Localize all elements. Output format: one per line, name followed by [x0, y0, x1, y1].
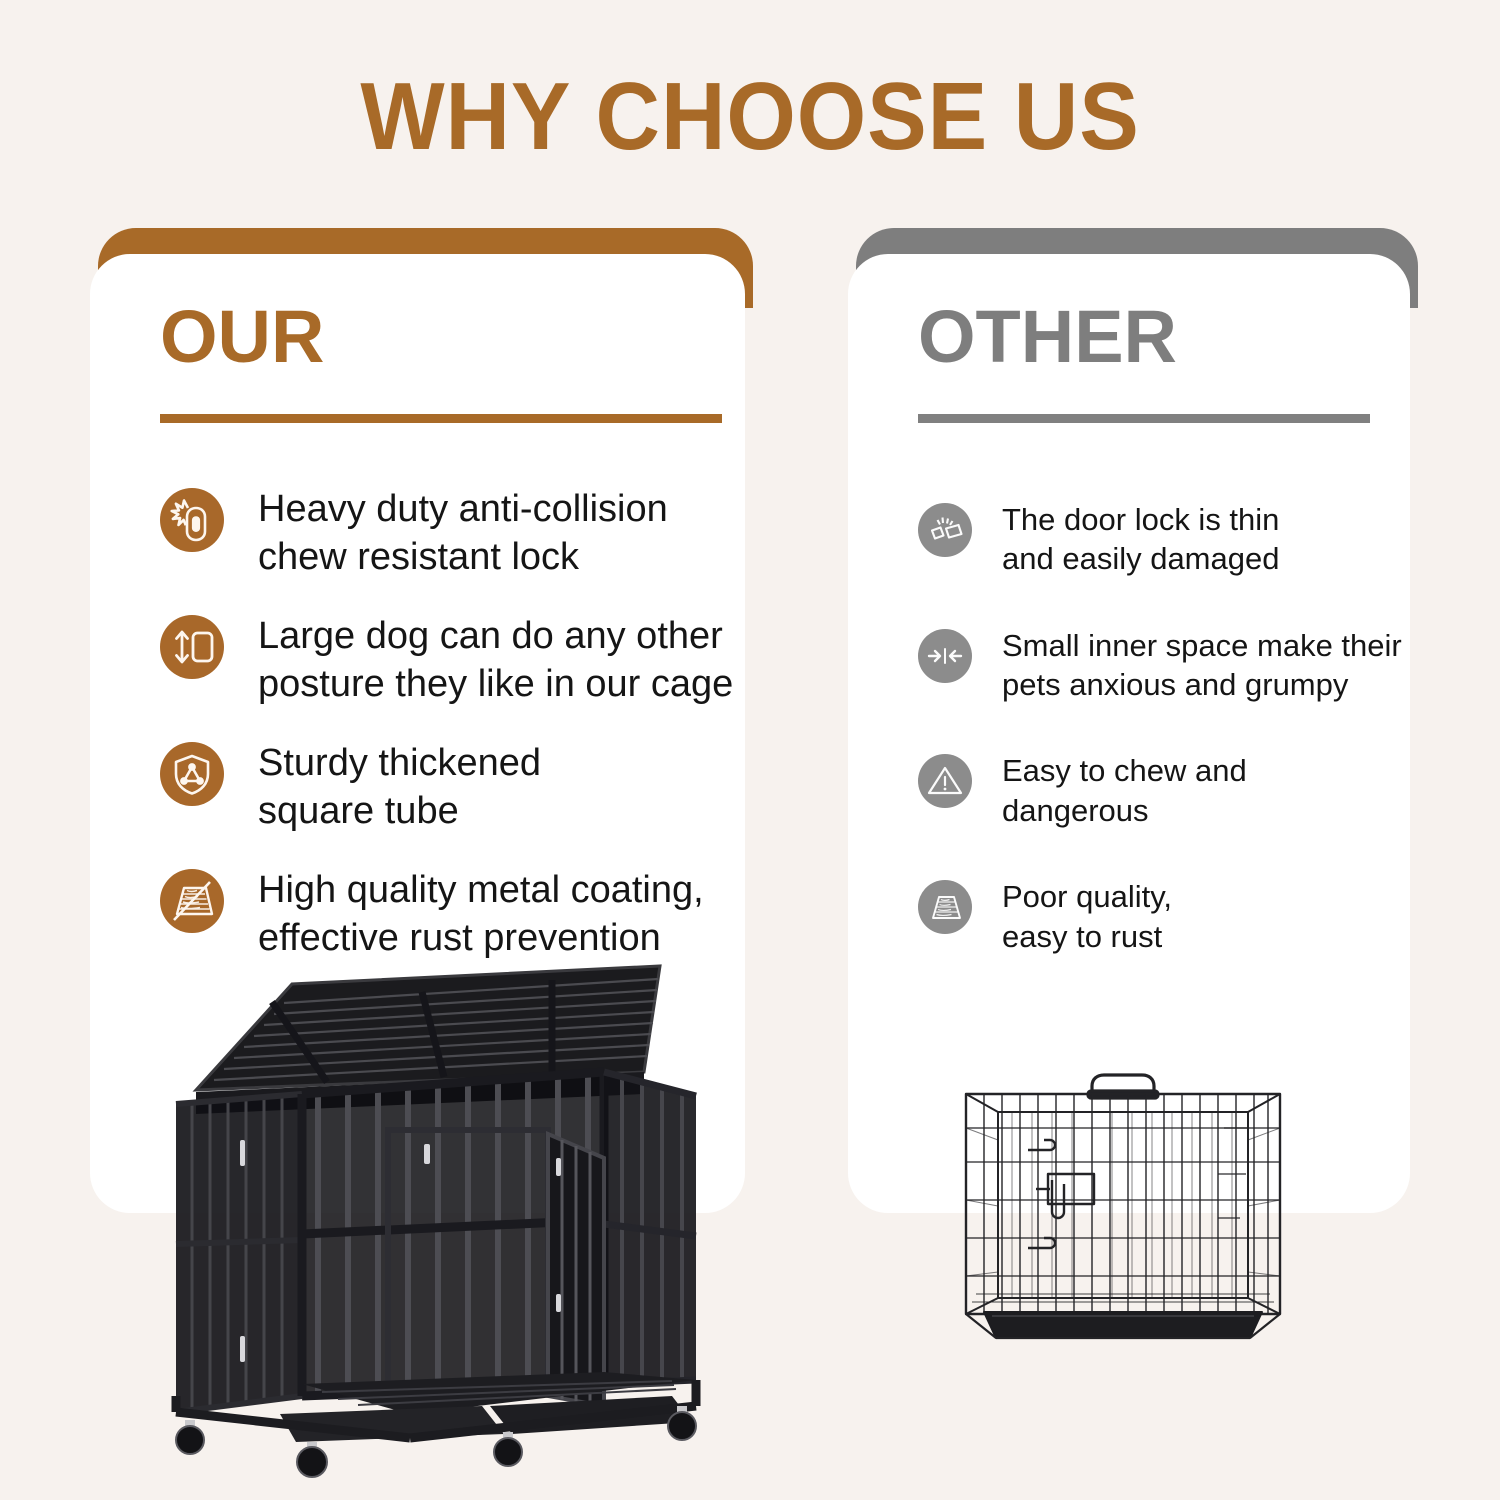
feature-row: Heavy duty anti-collision chew resistant… [160, 486, 726, 581]
our-card-heading: OUR [160, 300, 324, 374]
feature-label: Small inner space make their pets anxiou… [1002, 626, 1402, 705]
feature-label: Easy to chew and dangerous [1002, 751, 1247, 830]
feature-label: Sturdy thickened square tube [258, 740, 541, 835]
heavy-duty-steel-dog-crate-image [152, 944, 722, 1484]
our-feature-list: Heavy duty anti-collision chew resistant… [160, 486, 726, 994]
chew-resistant-lock-icon [160, 488, 224, 552]
our-heading-divider [160, 414, 722, 423]
feature-row: Sturdy thickened square tube [160, 740, 726, 835]
infographic-root: WHY CHOOSE US OUR Heavy duty [0, 0, 1500, 1500]
other-heading-divider [918, 414, 1370, 423]
other-card-heading: OTHER [918, 300, 1177, 374]
compress-arrows-icon [918, 629, 972, 683]
page-title: WHY CHOOSE US [53, 62, 1448, 172]
feature-label: Heavy duty anti-collision chew resistant… [258, 486, 668, 581]
feature-row: Easy to chew and dangerous [918, 751, 1388, 830]
our-card: OUR Heavy duty anti-collision chew resis… [90, 228, 745, 1213]
shield-strength-icon [160, 742, 224, 806]
feature-row: Poor quality, easy to rust [918, 877, 1388, 956]
feature-label: Large dog can do any other posture they … [258, 613, 733, 708]
feature-label: The door lock is thin and easily damaged [1002, 500, 1279, 579]
feature-row: Large dog can do any other posture they … [160, 613, 726, 708]
rust-prevention-coating-icon [160, 869, 224, 933]
vertical-space-arrow-icon [160, 615, 224, 679]
thin-wire-dog-crate-image [932, 1050, 1314, 1350]
other-card: OTHER The door lock is thin and easily d… [848, 228, 1410, 1213]
feature-row: The door lock is thin and easily damaged [918, 500, 1388, 579]
warning-triangle-icon [918, 754, 972, 808]
feature-row: Small inner space make their pets anxiou… [918, 626, 1388, 705]
rusty-tray-icon [918, 880, 972, 934]
other-feature-list: The door lock is thin and easily damaged [918, 500, 1388, 1003]
broken-lock-icon [918, 503, 972, 557]
feature-label: Poor quality, easy to rust [1002, 877, 1172, 956]
